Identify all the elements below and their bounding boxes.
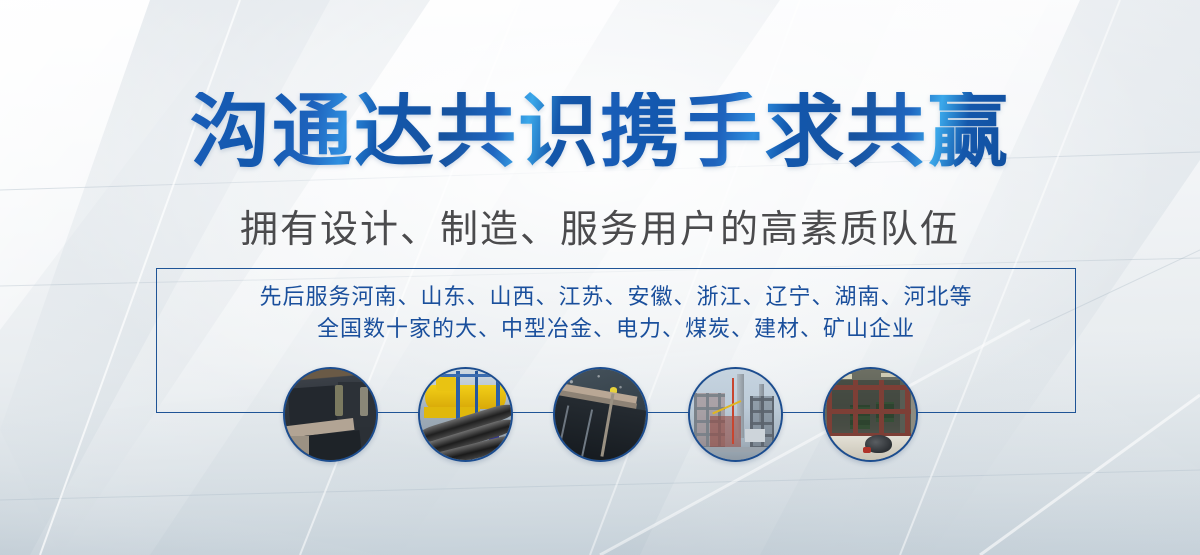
photo-circle-2[interactable] xyxy=(418,367,513,462)
power-plant-construction-site-image xyxy=(690,369,781,460)
photo-circle-5[interactable] xyxy=(823,367,918,462)
yellow-plant-equipment-and-pipes-image xyxy=(420,369,511,460)
photo-circle-4[interactable] xyxy=(688,367,783,462)
workshop-steel-racking-image xyxy=(825,369,916,460)
photo-circle-row xyxy=(0,0,1200,555)
photo-circle-1[interactable] xyxy=(283,367,378,462)
vessel-lining-installation-image xyxy=(285,369,376,460)
photo-circle-3[interactable] xyxy=(553,367,648,462)
steel-hopper-duct-assembly-image xyxy=(555,369,646,460)
promo-banner: 沟通达共识携手求共赢 拥有设计、制造、服务用户的高素质队伍 先后服务河南、山东、… xyxy=(0,0,1200,555)
